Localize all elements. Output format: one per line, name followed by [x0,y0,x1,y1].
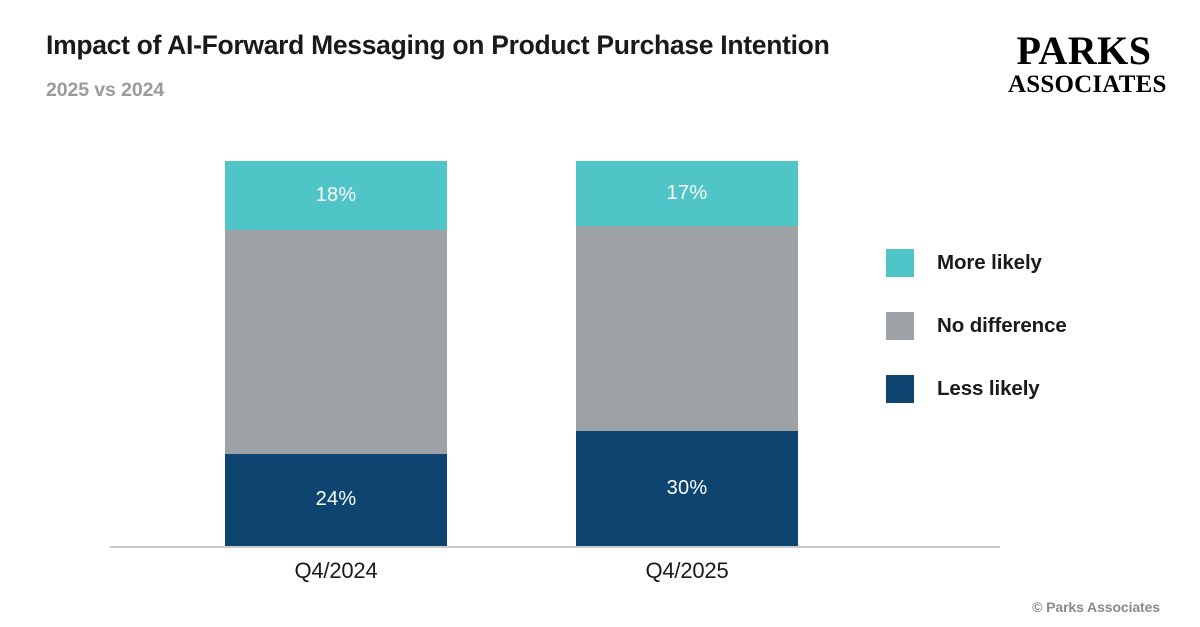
legend-item-less-likely[interactable]: Less likely [886,375,1067,403]
bar-segment-no-difference[interactable] [225,230,447,453]
legend-item-label: More likely [937,251,1042,275]
bar-segment-value-label: 30% [667,477,708,500]
bar-segment-no-difference[interactable] [576,226,798,430]
bar-segment-less-likely[interactable]: 24% [225,454,447,546]
legend-item-more-likely[interactable]: More likely [886,249,1067,277]
bar-segment-value-label: 24% [316,488,357,511]
legend-swatch-icon [886,249,914,277]
bar-group-q4-2024: 24%18% [225,161,447,546]
x-axis-tick-label: Q4/2025 [576,558,798,584]
legend-item-no-difference[interactable]: No difference [886,312,1067,340]
bar-segment-more-likely[interactable]: 17% [576,161,798,226]
legend-swatch-icon [886,312,914,340]
bar-group-q4-2025: 30%17% [576,161,798,546]
x-axis-tick-label: Q4/2024 [225,558,447,584]
bar-segment-more-likely[interactable]: 18% [225,161,447,230]
copyright-notice: © Parks Associates [1032,599,1160,615]
legend-item-label: Less likely [937,377,1040,401]
bar-segment-less-likely[interactable]: 30% [576,431,798,547]
chart-legend: More likely No difference Less likely [886,249,1067,438]
legend-swatch-icon [886,375,914,403]
bar-segment-value-label: 17% [667,182,708,205]
bar-segment-value-label: 18% [316,184,357,207]
x-axis-line [110,546,1000,548]
legend-item-label: No difference [937,314,1067,338]
